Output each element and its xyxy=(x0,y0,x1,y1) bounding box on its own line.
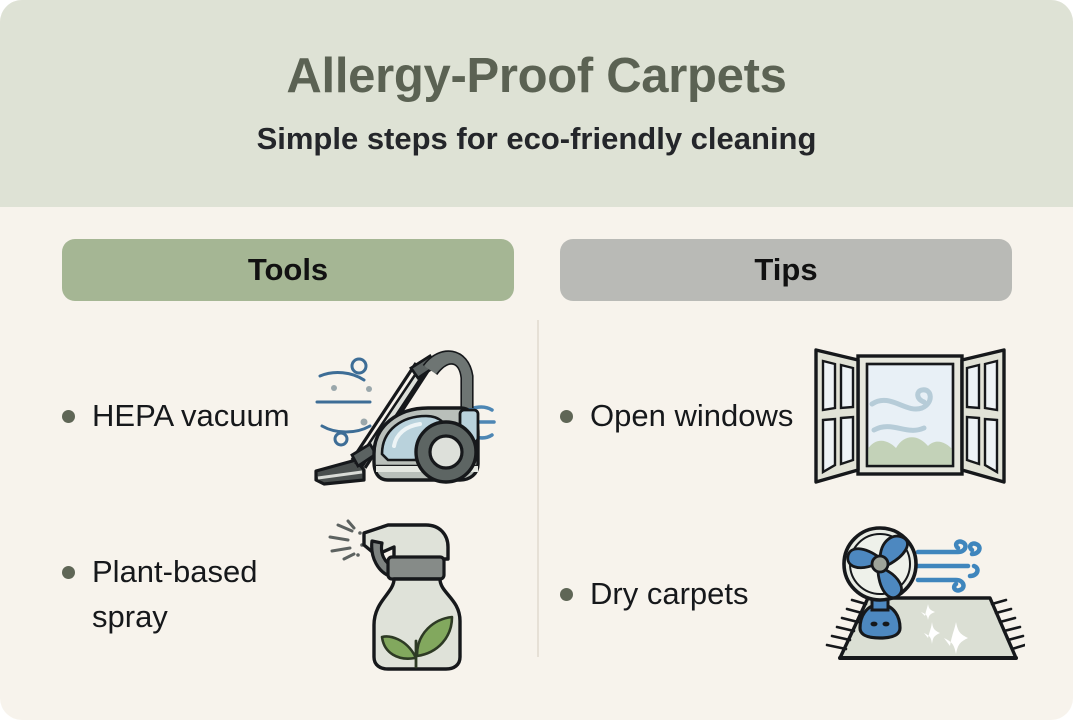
bullet-dot-icon xyxy=(62,566,75,579)
bullet-open-windows: Open windows xyxy=(560,394,810,438)
bullet-dot-icon xyxy=(62,410,75,423)
bullet-plant-based-spray: Plant-based spray xyxy=(62,550,312,638)
bullet-dry-carpets: Dry carpets xyxy=(560,572,810,616)
column-header-tools: Tools xyxy=(62,239,514,301)
infographic-card: Allergy-Proof Carpets Simple steps for e… xyxy=(0,0,1073,720)
list-item-label: Open windows xyxy=(590,394,793,438)
column-tips: Tips Open windows xyxy=(560,207,1012,720)
fan-on-carpet-icon xyxy=(810,520,1025,670)
column-header-tips: Tips xyxy=(560,239,1012,301)
spray-bottle-icon xyxy=(322,515,512,675)
column-tools: Tools HEPA vacuum xyxy=(62,207,514,720)
page-title: Allergy-Proof Carpets xyxy=(286,51,786,102)
page-subtitle: Simple steps for eco-friendly cleaning xyxy=(257,122,817,156)
list-item: Plant-based spray xyxy=(62,507,514,682)
bullet-dot-icon xyxy=(560,588,573,601)
list-item-label: HEPA vacuum xyxy=(92,394,290,438)
columns-container: Tools HEPA vacuum xyxy=(0,207,1073,720)
column-divider xyxy=(537,320,539,657)
column-header-tools-label: Tools xyxy=(248,252,328,288)
list-item: Dry carpets xyxy=(560,507,1012,682)
header-band: Allergy-Proof Carpets Simple steps for e… xyxy=(0,0,1073,207)
vacuum-cleaner-icon xyxy=(312,342,502,492)
list-item: HEPA vacuum xyxy=(62,329,514,504)
bullet-hepa-vacuum: HEPA vacuum xyxy=(62,394,312,438)
list-item: Open windows xyxy=(560,329,1012,504)
list-item-label: Plant-based spray xyxy=(92,550,307,638)
bullet-dot-icon xyxy=(560,410,573,423)
list-item-label: Dry carpets xyxy=(590,572,748,616)
open-window-icon xyxy=(810,342,1010,492)
column-header-tips-label: Tips xyxy=(754,252,817,288)
